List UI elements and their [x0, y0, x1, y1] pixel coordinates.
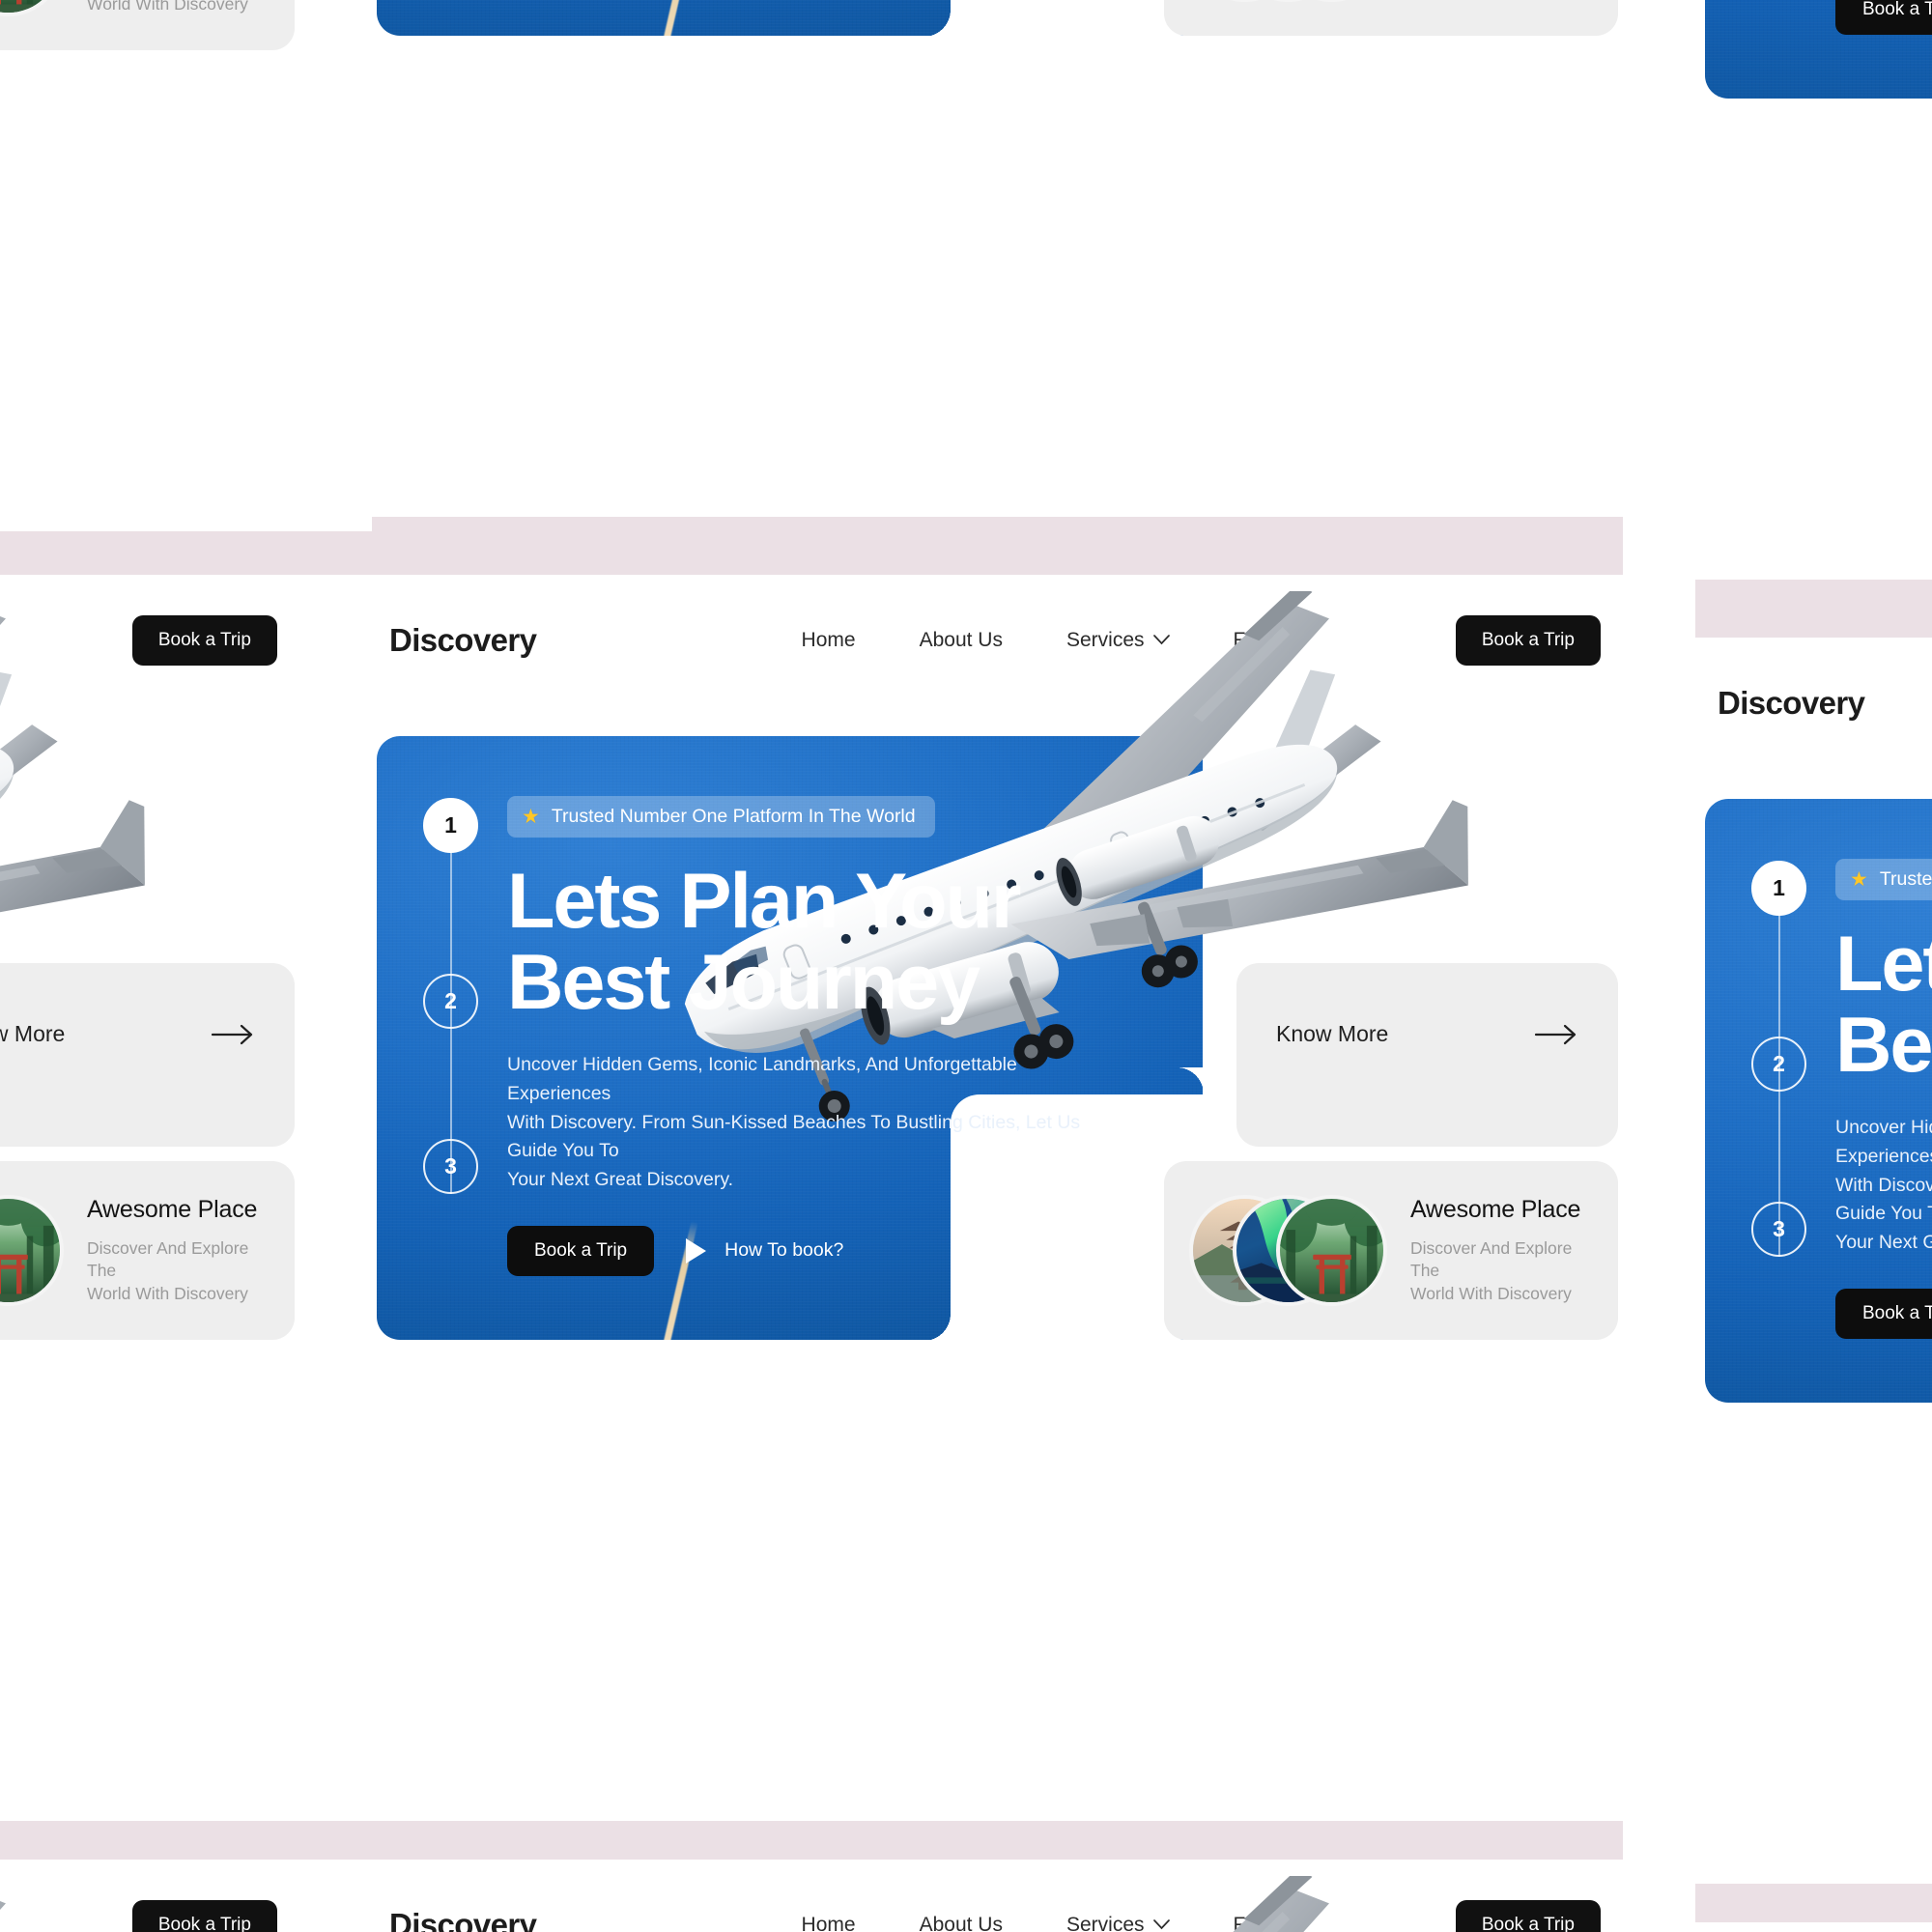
- hero-copy: ★ Trusted Number One Platform In The Wor…: [1835, 0, 1932, 35]
- hero-section: 1 2 3 ★ Trusted Number One Platform In T…: [1705, 799, 1932, 1403]
- hero-step-rail: 1 2 3: [423, 798, 479, 1219]
- hero-trust-badge-label: Trusted Number One Platform In The World: [552, 806, 916, 828]
- landing-page-card: Discovery Home About Us Services: [1623, 1922, 1932, 1932]
- nav-link-faq-label: FAQ: [1234, 629, 1274, 652]
- star-icon: ★: [522, 807, 540, 827]
- place-title: Awesome Place: [87, 1196, 270, 1224]
- nav-link-faq[interactable]: FAQ: [1234, 1914, 1274, 1932]
- hero-section: 1 2 3 ★ Trusted Number One Platform In T…: [1705, 0, 1932, 99]
- landing-page-card: Discovery Home About Us Services: [1623, 638, 1932, 1884]
- awesome-place-card[interactable]: Awesome Place Discover And Explore The W…: [1164, 1161, 1618, 1340]
- nav-link-home[interactable]: Home: [802, 1914, 856, 1932]
- hero-trust-badge[interactable]: ★ Trusted Number One Platform In The Wor…: [1835, 859, 1932, 900]
- know-more-label: Know More: [0, 1021, 65, 1047]
- hero-section: 1 2 3 ★ Trusted Number One Platform In T…: [0, 0, 295, 50]
- place-subtitle: Discover And Explore The World With Disc…: [87, 1237, 270, 1306]
- place-title: Awesome Place: [1410, 1196, 1593, 1224]
- navbar: Discovery Home About Us Services: [1623, 638, 1932, 768]
- hero-book-a-trip-button[interactable]: Book a Trip: [1835, 0, 1932, 35]
- hero-step-3[interactable]: 3: [423, 1139, 478, 1194]
- arrow-right-icon[interactable]: [1534, 1024, 1578, 1045]
- hero-trust-badge-label: Trusted Number One Platform In The World: [1880, 868, 1932, 891]
- mockup-board: Discovery Home About Us Services: [0, 0, 1932, 1932]
- know-more-row: Know More: [1276, 1021, 1578, 1047]
- hero-trust-badge[interactable]: ★ Trusted Number One Platform In The Wor…: [507, 796, 935, 838]
- thumb-forest-torii: [0, 1195, 64, 1306]
- nav-link-about-us-label: About Us: [920, 1914, 1003, 1932]
- hero-section: 1 2 3 ★ Trusted Number One Platform In T…: [377, 0, 1618, 36]
- awesome-place-card[interactable]: Awesome Place Discover And Explore The W…: [0, 0, 295, 50]
- hero-title: Lets Plan Your Best Journey: [1835, 923, 1932, 1086]
- hero-step-1[interactable]: 1: [423, 798, 478, 853]
- place-text: Awesome Place Discover And Explore The W…: [87, 0, 270, 15]
- thumb-forest-torii: [1276, 1195, 1387, 1306]
- how-to-book-label: How To book?: [724, 1239, 843, 1262]
- thumb-forest-torii: [0, 0, 64, 16]
- landing-page-tile: Discovery Home About Us Services: [1623, 1922, 1932, 1932]
- landing-page-card: Discovery Home About Us Services: [295, 0, 1695, 517]
- navbar: Discovery Home About Us Services: [1623, 1922, 1932, 1932]
- hero-actions: Book a Trip How To book?: [1835, 0, 1932, 35]
- how-to-book-link[interactable]: How To book?: [686, 1238, 843, 1264]
- place-text: Awesome Place Discover And Explore The W…: [1410, 0, 1593, 1]
- navbar-book-a-trip-button[interactable]: Book a Trip: [1456, 1900, 1601, 1932]
- awesome-place-card[interactable]: Awesome Place Discover And Explore The W…: [1164, 0, 1618, 36]
- nav-link-services-label: Services: [1066, 629, 1145, 652]
- hero-step-1[interactable]: 1: [1751, 861, 1806, 916]
- navbar: Discovery Home About Us Services: [295, 1860, 1695, 1932]
- hero-actions: Book a Trip How To book?: [1835, 1289, 1932, 1339]
- hero-copy: ★ Trusted Number One Platform In The Wor…: [1835, 859, 1932, 1339]
- hero-step-rail: 1 2 3: [1751, 861, 1807, 1282]
- landing-page-tile: Discovery Home About Us Services: [295, 0, 1695, 517]
- place-subtitle: Discover And Explore The World With Disc…: [1410, 1237, 1593, 1306]
- hero-book-a-trip-button[interactable]: Book a Trip: [507, 1226, 654, 1276]
- nav-link-faq[interactable]: FAQ: [1234, 629, 1274, 652]
- nav-link-home-label: Home: [802, 1914, 856, 1932]
- nav-links: Home About Us Services FAQ: [628, 629, 1274, 652]
- nav-link-about-us[interactable]: About Us: [920, 629, 1003, 652]
- place-text: Awesome Place Discover And Explore The W…: [87, 1196, 270, 1306]
- navbar-book-a-trip-button[interactable]: Book a Trip: [132, 1900, 277, 1932]
- nav-links: Home About Us Services FAQ: [628, 1914, 1274, 1932]
- hero-title: Lets Plan Your Best Journey: [507, 861, 1183, 1023]
- hero-step-2[interactable]: 2: [423, 974, 478, 1029]
- hero-section: 1 2 3 ★ Trusted Number One Platform In T…: [0, 736, 295, 1340]
- arrow-right-icon[interactable]: [211, 1024, 255, 1045]
- hero-step-3[interactable]: 3: [1751, 1202, 1806, 1257]
- navbar: Discovery Home About Us Services: [295, 575, 1695, 705]
- hero-copy: ★ Trusted Number One Platform In The Wor…: [507, 796, 1183, 1276]
- nav-link-home-label: Home: [802, 629, 856, 652]
- chevron-down-icon: [1153, 1919, 1170, 1930]
- nav-link-about-us-label: About Us: [920, 629, 1003, 652]
- nav-link-faq-label: FAQ: [1234, 1914, 1274, 1932]
- hero-actions: Book a Trip How To book?: [507, 1226, 1183, 1276]
- brand-logo[interactable]: Discovery: [389, 622, 536, 659]
- know-more-label: Know More: [1276, 1021, 1388, 1047]
- star-icon: ★: [1850, 869, 1868, 890]
- landing-page-tile: Discovery Home About Us Services: [295, 1860, 1695, 1932]
- place-thumbnail-stack: [0, 1195, 64, 1306]
- contrail-streak: [663, 0, 698, 36]
- hero-subtitle: Uncover Hidden Gems, Iconic Landmarks, A…: [1835, 1114, 1932, 1257]
- brand-logo[interactable]: Discovery: [389, 1907, 536, 1932]
- nav-link-services[interactable]: Services: [1066, 1914, 1170, 1932]
- hero-step-2[interactable]: 2: [1751, 1037, 1806, 1092]
- landing-page-tile: Discovery Home About Us Services: [1623, 0, 1932, 580]
- brand-logo[interactable]: Discovery: [1718, 685, 1864, 722]
- nav-link-home[interactable]: Home: [802, 629, 856, 652]
- place-text: Awesome Place Discover And Explore The W…: [1410, 1196, 1593, 1306]
- hero-subtitle: Uncover Hidden Gems, Iconic Landmarks, A…: [507, 1051, 1087, 1194]
- nav-link-services-label: Services: [1066, 1914, 1145, 1932]
- hero-blue-panel: [377, 0, 1203, 36]
- landing-page-tile: Discovery Home About Us Services: [1623, 638, 1932, 1884]
- place-subtitle: Discover And Explore The World With Disc…: [1410, 0, 1593, 1]
- play-icon: [686, 1238, 706, 1264]
- navbar-book-a-trip-button[interactable]: Book a Trip: [1456, 615, 1601, 666]
- landing-page-card: Discovery Home About Us Services: [1623, 0, 1932, 580]
- landing-page-tile: Discovery Home About Us Services: [295, 575, 1695, 1821]
- know-more-card[interactable]: Know More: [1236, 963, 1618, 1147]
- place-thumbnail-stack: [1189, 0, 1387, 2]
- place-thumbnail-stack: [1189, 1195, 1387, 1306]
- place-thumbnail-stack: [0, 0, 64, 16]
- nav-link-services[interactable]: Services: [1066, 629, 1170, 652]
- nav-link-about-us[interactable]: About Us: [920, 1914, 1003, 1932]
- know-more-card[interactable]: Know More: [0, 963, 295, 1147]
- landing-page-card: Discovery Home About Us Services: [295, 575, 1695, 1821]
- know-more-row: Know More: [0, 1021, 255, 1047]
- awesome-place-card[interactable]: Awesome Place Discover And Explore The W…: [0, 1161, 295, 1340]
- landing-page-card: Discovery Home About Us Services: [295, 1860, 1695, 1932]
- navbar-book-a-trip-button[interactable]: Book a Trip: [132, 615, 277, 666]
- hero-book-a-trip-button[interactable]: Book a Trip: [1835, 1289, 1932, 1339]
- hero-section: 1 2 3 ★ Trusted Number One Platform In T…: [377, 736, 1618, 1340]
- place-subtitle: Discover And Explore The World With Disc…: [87, 0, 270, 15]
- chevron-down-icon: [1153, 635, 1170, 645]
